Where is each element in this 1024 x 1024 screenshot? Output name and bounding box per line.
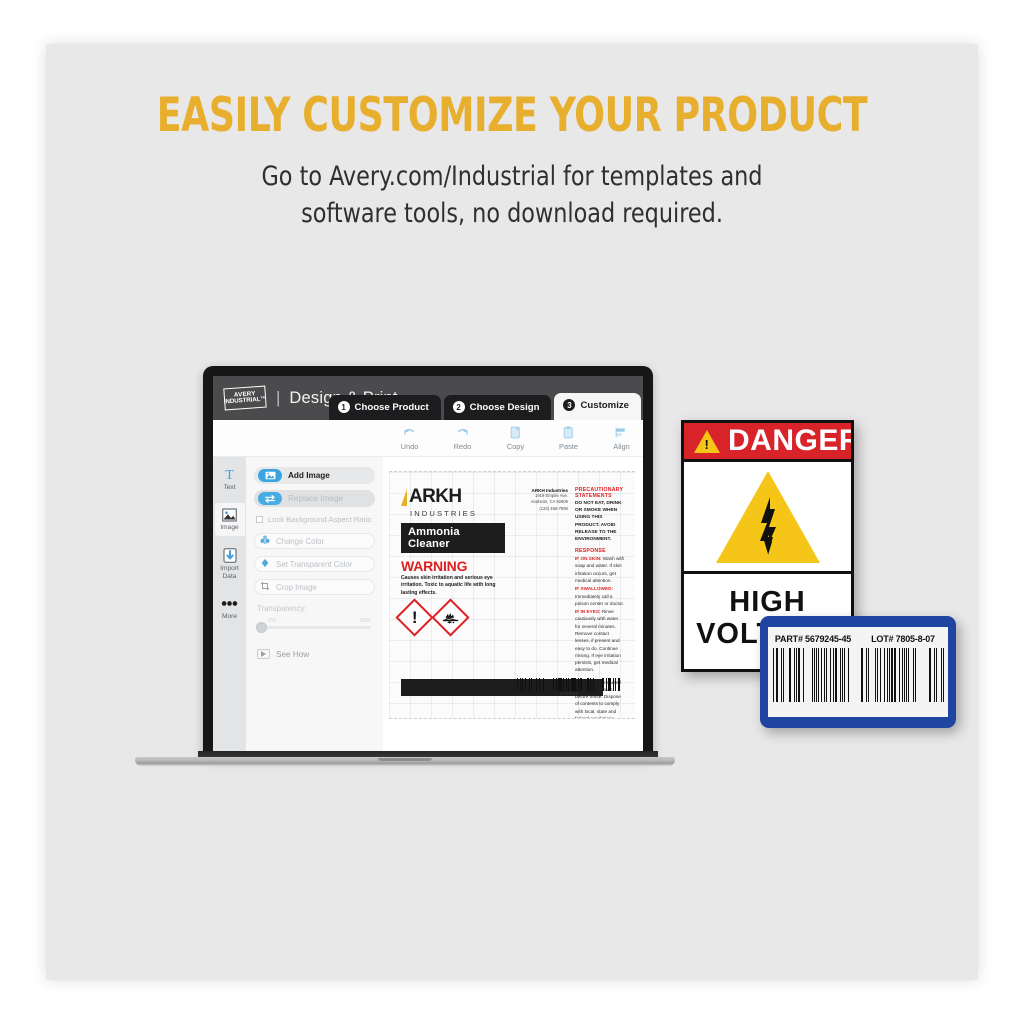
sidebar-item-image[interactable]: Image — [215, 503, 245, 535]
precautionary-heading: PRECAUTIONARY STATEMENTS — [575, 487, 625, 499]
lot-barcode-block: LOT# 7805-8-07 — [861, 634, 946, 702]
warning-triangle-icon — [694, 430, 720, 453]
image-picture-icon — [222, 506, 237, 523]
tab-choose-product[interactable]: 1 Choose Product — [329, 395, 441, 420]
text-t-icon: T — [222, 466, 237, 483]
replace-image-label: Replace Image — [288, 494, 343, 503]
rail-label-line1: Import — [220, 565, 239, 572]
poster-canvas: EASILY CUSTOMIZE YOUR PRODUCT Go to Aver… — [0, 0, 1024, 1024]
page-subtitle: Go to Avery.com/Industrial for templates… — [83, 158, 940, 233]
product-name-bar: Ammonia Cleaner — [401, 523, 505, 553]
logo-line-2: INDUSTRIAL™ — [224, 397, 267, 406]
ghs-pictogram-row: ! — [401, 604, 505, 631]
tab-customize[interactable]: 3 Customize — [554, 393, 641, 420]
align-icon — [615, 425, 628, 440]
copy-page-icon — [510, 425, 521, 440]
response-keyword: IF ON SKIN: — [575, 556, 602, 561]
add-image-label: Add Image — [288, 471, 330, 480]
lot-number-label: LOT# 7805-8-07 — [861, 634, 946, 644]
see-how-button[interactable]: See How — [257, 649, 375, 659]
laptop-base-notch — [378, 758, 432, 761]
sidebar-item-text[interactable]: T Text — [215, 463, 245, 495]
paste-clipboard-icon — [563, 425, 574, 440]
undo-arrow-icon — [403, 425, 416, 440]
label-barcode: 012345678 — [517, 678, 621, 696]
transparent-color-drop-icon — [260, 558, 270, 570]
rail-label: Text — [223, 484, 235, 491]
add-image-icon — [258, 469, 282, 482]
lot-barcode-bars — [861, 648, 946, 702]
brand-name: ARKH — [409, 486, 462, 508]
toolbar-redo-button[interactable]: Redo — [436, 425, 489, 451]
change-color-label: Change Color — [276, 537, 324, 546]
slider-track — [262, 626, 371, 629]
ghs-environment-pictogram — [431, 599, 469, 637]
part-lot-barcode-label: PART# 5679245-45 LOT# 7805-8-07 — [760, 616, 956, 728]
color-palette-icon — [260, 535, 270, 547]
play-icon — [257, 649, 270, 659]
barcode-bars — [517, 678, 621, 691]
change-color-button[interactable]: Change Color — [254, 533, 375, 549]
subtitle-line-2: software tools, no download required. — [83, 195, 940, 232]
more-dots-icon — [221, 595, 238, 612]
replace-swap-icon — [258, 492, 282, 505]
toolbar-align-button[interactable]: Align — [595, 425, 643, 451]
tab-choose-design[interactable]: 2 Choose Design — [444, 395, 552, 420]
danger-line-1: HIGH — [684, 586, 851, 618]
header-separator: | — [276, 388, 280, 408]
response-item: IF SWALLOWED: Immediately call a poison … — [575, 585, 625, 607]
brand-subtitle: INDUSTRIES — [410, 509, 505, 518]
response-keyword: IF IN EYES: — [575, 609, 601, 614]
design-canvas[interactable]: ARKH INDUSTRIES Ammonia Cleaner WARNING … — [383, 457, 643, 758]
slider-min-value: 0% — [268, 618, 276, 624]
exclamation-glyph: ! — [412, 609, 418, 626]
laptop-screen: AVERY INDUSTRIAL™ | Design & Print 1 Cho… — [213, 376, 643, 758]
toolbar-label: Align — [613, 442, 629, 451]
danger-pictogram-area — [684, 462, 851, 574]
rail-label-line2: Data — [223, 573, 237, 580]
environment-glyph — [442, 610, 459, 625]
slider-handle[interactable] — [256, 622, 267, 633]
toolbar-label: Redo — [454, 442, 472, 451]
page-title: EASILY CUSTOMIZE YOUR PRODUCT — [111, 90, 913, 142]
redo-arrow-icon — [456, 425, 469, 440]
transparency-slider[interactable]: 0% 99% — [256, 621, 373, 633]
tool-rail: T Text Image — [213, 457, 246, 758]
barcode-label-inner: PART# 5679245-45 LOT# 7805-8-07 — [768, 627, 948, 717]
app-header: AVERY INDUSTRIAL™ | Design & Print 1 Cho… — [213, 376, 643, 420]
part-barcode-block: PART# 5679245-45 — [771, 634, 856, 702]
arkh-slash-mark — [401, 489, 407, 506]
crop-image-button[interactable]: Crop Image — [254, 579, 375, 595]
signal-word: WARNING — [401, 558, 505, 574]
danger-word: DANGER — [728, 424, 854, 458]
svg-text:T: T — [225, 467, 234, 482]
step-tabs: 1 Choose Product 2 Choose Design 3 Custo… — [326, 393, 641, 420]
rail-label: More — [222, 613, 237, 620]
toolbar-copy-button[interactable]: Copy — [489, 425, 542, 451]
crop-icon — [260, 581, 270, 593]
precautionary-body: DO NOT EAT, DRINK OR SMOKE WHEN USING TH… — [575, 500, 625, 543]
step-label: Choose Design — [470, 402, 540, 413]
sidebar-item-import-data[interactable]: Import Data — [215, 544, 245, 585]
toolbar-paste-button[interactable]: Paste — [542, 425, 595, 451]
danger-header-band: DANGER — [684, 423, 851, 462]
see-how-label: See How — [276, 650, 309, 659]
subtitle-line-1: Go to Avery.com/Industrial for templates… — [83, 158, 940, 195]
response-heading: RESPONSE — [575, 548, 625, 554]
laptop-base — [135, 751, 675, 771]
company-phone: (123) 456-7890 — [512, 506, 568, 512]
sidebar-item-more[interactable]: More — [215, 592, 245, 624]
set-transparent-color-label: Set Transparent Color — [276, 560, 352, 569]
response-item: IF ON SKIN: Wash with soap and water. If… — [575, 555, 625, 584]
replace-image-button[interactable]: Replace Image — [254, 490, 375, 507]
set-transparent-color-button[interactable]: Set Transparent Color — [254, 556, 375, 572]
rail-label: Image — [220, 524, 238, 531]
step-label: Choose Product — [355, 402, 429, 413]
hazard-statement: Causes skin irritation and serious eye i… — [401, 575, 501, 597]
label-artwork[interactable]: ARKH INDUSTRIES Ammonia Cleaner WARNING … — [389, 471, 635, 719]
laptop-mockup: AVERY INDUSTRIAL™ | Design & Print 1 Cho… — [135, 366, 675, 786]
lock-aspect-ratio-checkbox[interactable]: Lock Background Aspect Ratio — [256, 515, 375, 524]
image-options-panel: Add Image Replace Image — [246, 457, 383, 758]
electric-shock-bolt-icon — [716, 471, 820, 563]
arkh-logo: ARKH — [401, 486, 505, 508]
part-barcode-bars — [771, 648, 856, 702]
step-number: 1 — [338, 401, 350, 413]
response-text: Rinse cautiously with water for several … — [575, 609, 621, 672]
ghs-exclamation-pictogram: ! — [395, 599, 433, 637]
laptop-lid: AVERY INDUSTRIAL™ | Design & Print 1 Cho… — [203, 366, 653, 758]
checkbox-box — [256, 516, 263, 523]
part-number-label: PART# 5679245-45 — [771, 634, 856, 644]
crop-image-label: Crop Image — [276, 583, 317, 592]
response-text: Immediately call a poison center or doct… — [575, 594, 624, 606]
toolbar-label: Undo — [401, 442, 419, 451]
step-number: 3 — [563, 399, 575, 411]
editor-workspace: T Text Image — [213, 457, 643, 758]
avery-industrial-logo: AVERY INDUSTRIAL™ — [223, 386, 266, 411]
toolbar-label: Copy — [507, 442, 524, 451]
barcode-number: 012345678 — [517, 692, 621, 696]
add-image-button[interactable]: Add Image — [254, 467, 375, 484]
toolbar-undo-button[interactable]: Undo — [383, 425, 436, 451]
step-label: Customize — [580, 400, 629, 411]
bolt-glyph — [759, 497, 777, 555]
import-download-icon — [223, 547, 237, 564]
response-item: IF IN EYES: Rinse cautiously with water … — [575, 608, 625, 674]
marketing-copy-block: EASILY CUSTOMIZE YOUR PRODUCT Go to Aver… — [46, 90, 978, 232]
slider-max-value: 99% — [360, 618, 371, 624]
lock-aspect-label: Lock Background Aspect Ratio — [268, 515, 371, 524]
response-keyword: IF SWALLOWED: — [575, 586, 613, 591]
edit-toolbar: Undo Redo Copy — [213, 420, 643, 457]
toolbar-label: Paste — [559, 442, 578, 451]
transparency-label: Transparency: — [257, 604, 375, 613]
step-number: 2 — [453, 401, 465, 413]
